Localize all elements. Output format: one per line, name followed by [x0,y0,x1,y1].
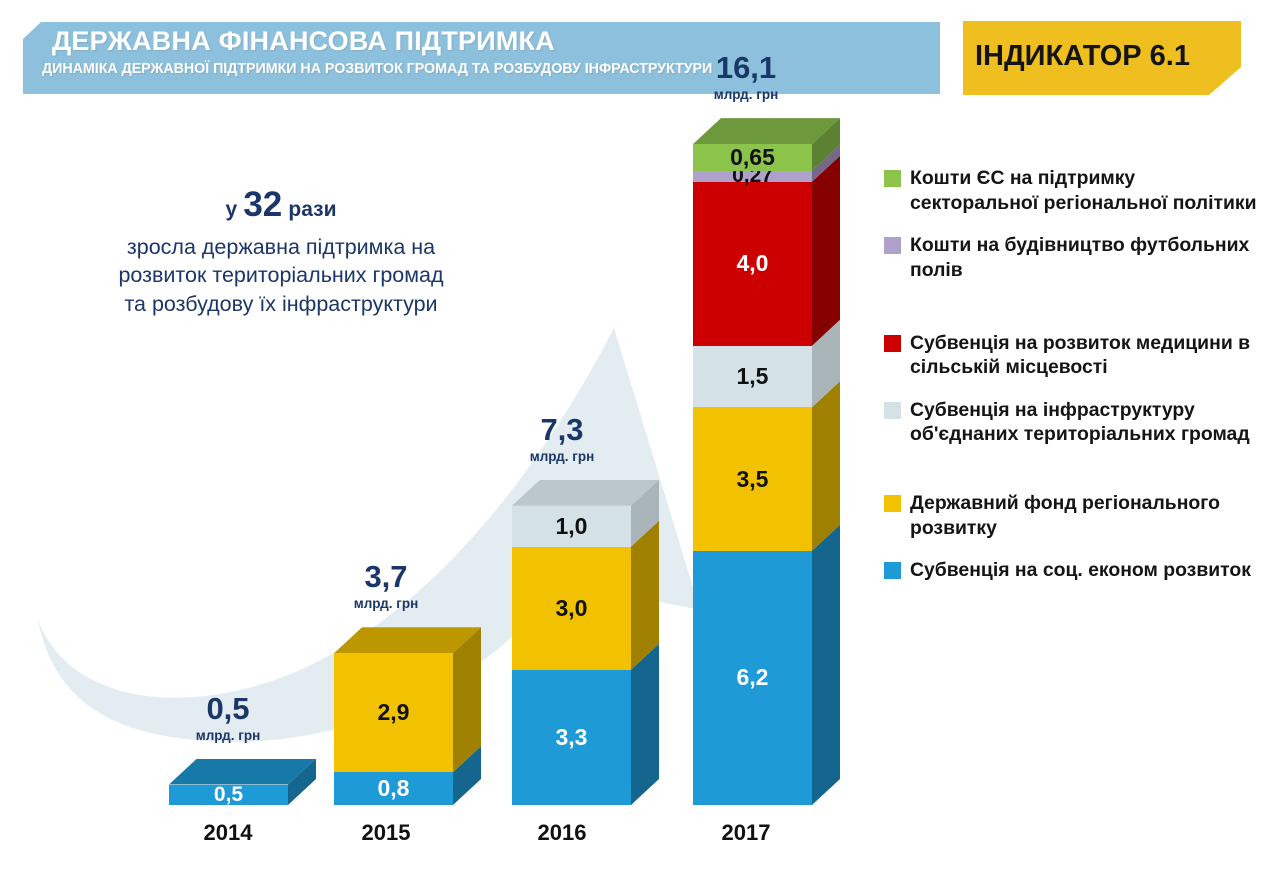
legend-item-label: Субвенція на розвиток медицини в сільськ… [910,331,1262,380]
legend-color-swatch [884,402,901,419]
x-axis-tick-label: 2016 [482,820,642,846]
bar-segment: 3,5 [693,407,812,551]
bar-total-value: 7,3 [472,414,652,445]
legend-color-swatch [884,495,901,512]
bar-segment: 3,0 [512,547,631,670]
bar-segment-side [631,521,659,670]
bar-total-value: 3,7 [296,561,476,592]
stacked-bar-chart: 0,50,5млрд. грн20140,82,93,7млрд. грн201… [0,0,880,885]
legend-color-swatch [884,170,901,187]
legend-item: Субвенція на інфраструктуру об'єднаних т… [884,398,1262,447]
x-axis-tick-label: 2015 [306,820,466,846]
legend-item-label: Кошти ЄС на підтримку секторальної регіо… [910,166,1262,215]
indicator-badge-fold [1209,67,1241,95]
legend-item: Кошти ЄС на підтримку секторальної регіо… [884,166,1262,215]
legend-color-swatch [884,335,901,352]
bar-segment: 0,27 [693,171,812,182]
legend-item: Кошти на будівництво футбольних полів [884,233,1262,282]
legend-color-swatch [884,562,901,579]
bar-segment: 1,5 [693,346,812,408]
bar-segment-label: 0,8 [334,772,453,805]
bar-segment-side [812,381,840,551]
legend-item: Державний фонд регіонального розвитку [884,491,1262,540]
bar-total-unit: млрд. грн [656,87,836,102]
x-axis-tick-label: 2014 [148,820,308,846]
bar-segment-side [631,644,659,805]
legend-item-label: Субвенція на інфраструктуру об'єднаних т… [910,398,1262,447]
bar-total-label: 3,7млрд. грн [296,561,476,611]
bar-segment-label: 0,5 [169,785,288,806]
legend-item-label: Субвенція на соц. економ розвиток [910,558,1251,583]
bar-total-unit: млрд. грн [472,449,652,464]
legend-color-swatch [884,237,901,254]
bar-segment-label: 2,9 [334,653,453,772]
bar-segment: 3,3 [512,670,631,805]
bar-segment-label: 3,0 [512,547,631,670]
bar-segment-label: 4,0 [693,182,812,346]
bar-segment: 4,0 [693,182,812,346]
bar-segment: 0,5 [169,785,288,806]
bar-segment-label: 3,5 [693,407,812,551]
bar-total-label: 7,3млрд. грн [472,414,652,464]
legend-item: Субвенція на соц. економ розвиток [884,558,1262,583]
bar-segment: 0,65 [693,144,812,171]
bar-segment-label: 0,65 [693,144,812,171]
bar-segment: 2,9 [334,653,453,772]
bar-segment-label: 3,3 [512,670,631,805]
bar-segment-side [812,525,840,805]
legend-item-label: Державний фонд регіонального розвитку [910,491,1262,540]
chart-legend: Кошти ЄС на підтримку секторальної регіо… [884,166,1262,601]
bar-segment: 6,2 [693,551,812,805]
bar-total-unit: млрд. грн [296,596,476,611]
bar-segment-label: 0,27 [693,171,812,182]
bar-total-unit: млрд. грн [138,728,318,743]
x-axis-tick-label: 2017 [666,820,826,846]
bar-segment: 0,8 [334,772,453,805]
bar-segment-label: 1,0 [512,506,631,547]
bar-segment-side [812,156,840,346]
bar-total-label: 0,5млрд. грн [138,693,318,743]
bar-total-value: 16,1 [656,52,836,83]
bar-segment: 1,0 [512,506,631,547]
bar-total-label: 16,1млрд. грн [656,52,836,102]
bar-segment-label: 6,2 [693,551,812,805]
bar-segment-label: 1,5 [693,346,812,408]
legend-item: Субвенція на розвиток медицини в сільськ… [884,331,1262,380]
legend-item-label: Кошти на будівництво футбольних полів [910,233,1262,282]
indicator-label: ІНДИКАТОР 6.1 [975,40,1190,73]
bar-total-value: 0,5 [138,693,318,724]
